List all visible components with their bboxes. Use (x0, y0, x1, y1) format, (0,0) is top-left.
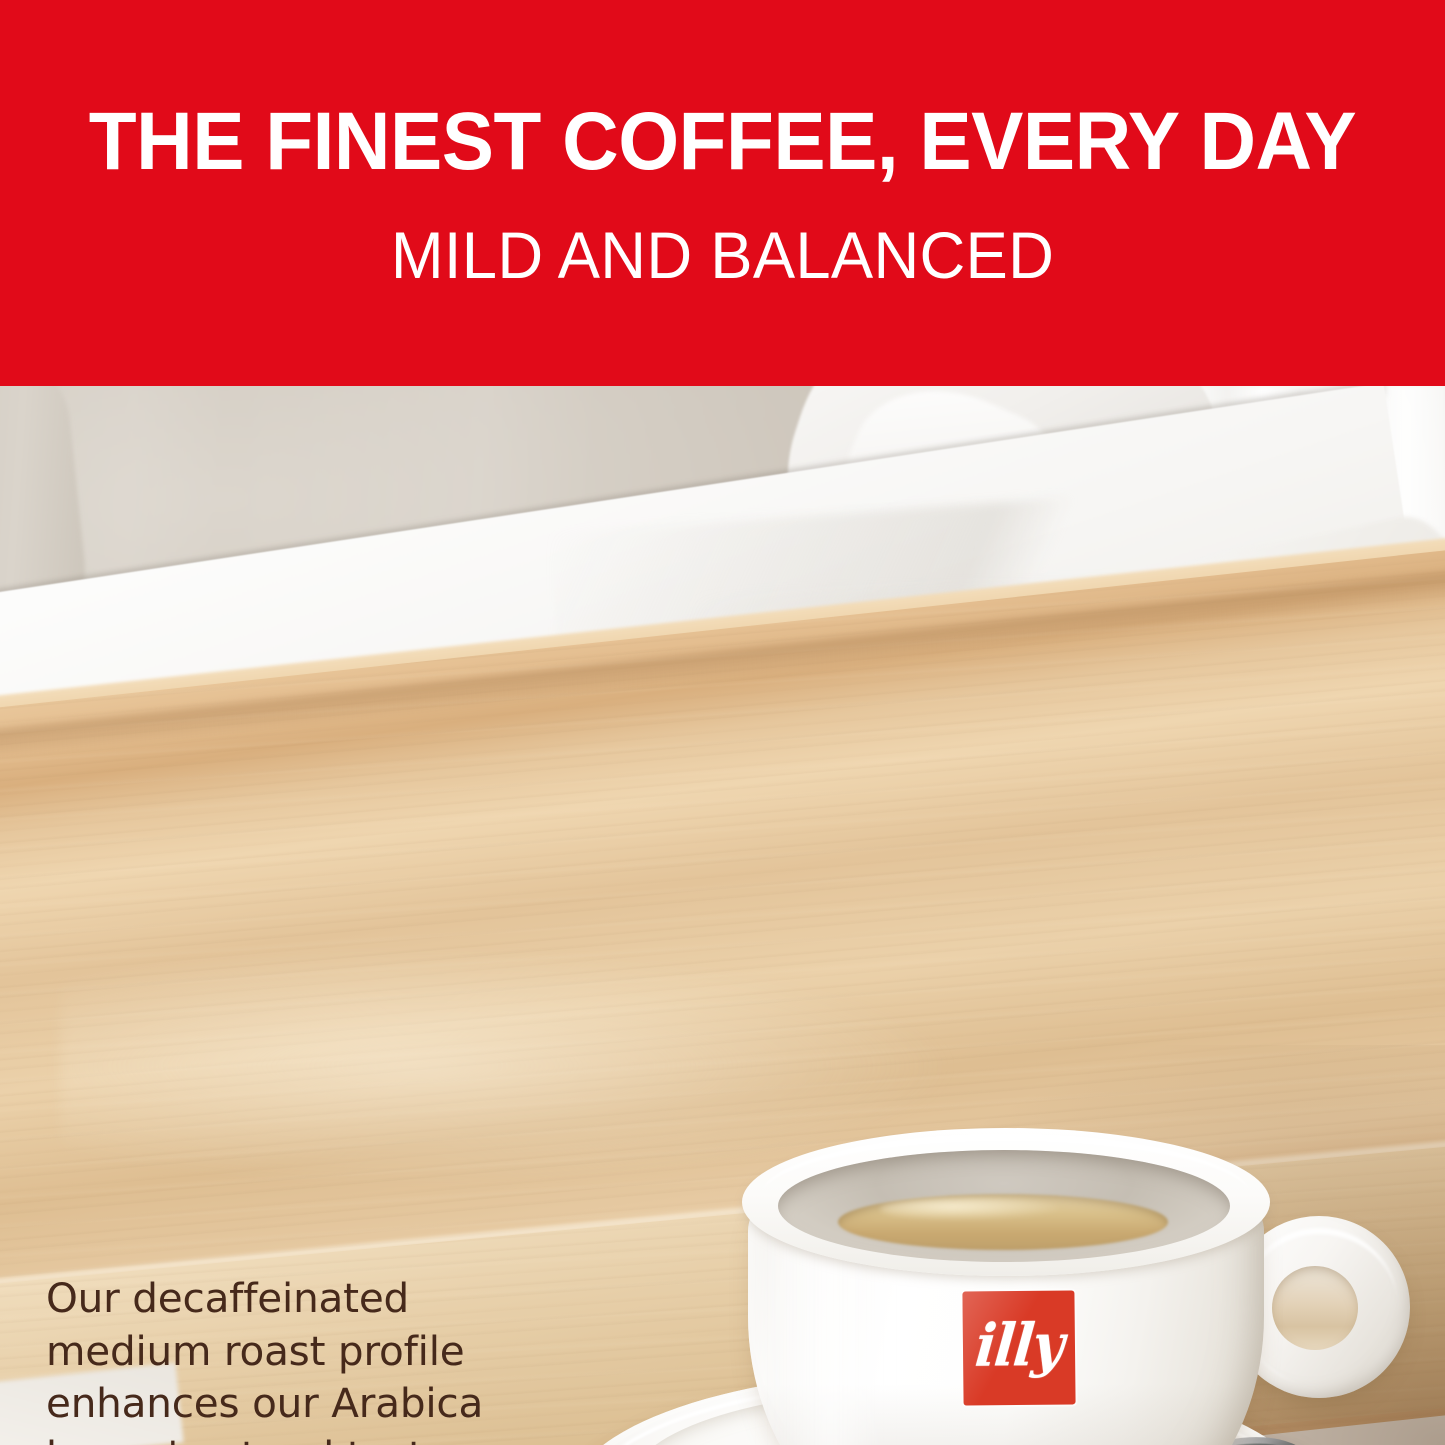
page-title: THE FINEST COFFEE, EVERY DAY (33, 98, 1413, 186)
page-subtitle: MILD AND BALANCED (29, 218, 1416, 292)
cup-rim-highlight (760, 1134, 1252, 1262)
product-banner: THE FINEST COFFEE, EVERY DAY MILD AND BA… (0, 0, 1445, 1445)
product-photo: illy illy Our decaffeinated medium roast… (0, 386, 1445, 1445)
header-band: THE FINEST COFFEE, EVERY DAY MILD AND BA… (0, 0, 1445, 386)
product-description: Our decaffeinated medium roast profile e… (46, 1272, 536, 1445)
illy-logo: illy (962, 1290, 1075, 1405)
illy-logo-gloss (962, 1290, 1075, 1405)
